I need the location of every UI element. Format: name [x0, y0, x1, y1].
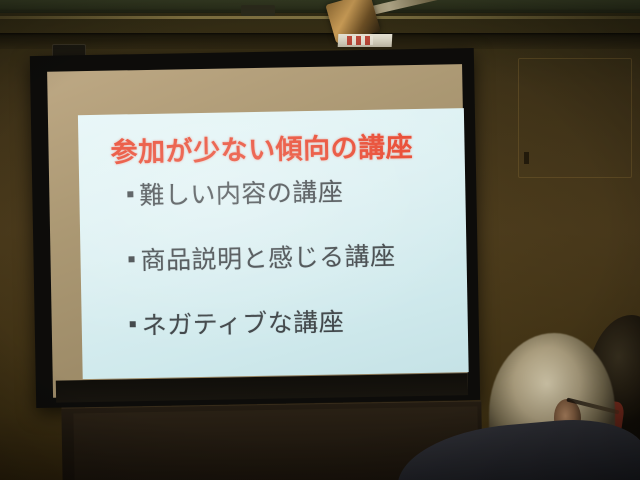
projection-screen-cloth: 参加が少ない傾向の講座 難しい内容の講座 商品説明と感じる講座 ネガティブな講座 — [47, 64, 468, 398]
rail-highlight — [0, 16, 640, 19]
wall-panel-latch-icon — [524, 152, 529, 164]
slide-title: 参加が少ない傾向の講座 — [110, 125, 413, 170]
list-item-label: ネガティブな講座 — [141, 302, 344, 342]
list-item: 難しい内容の講座 — [127, 170, 456, 212]
rail-shadow — [0, 33, 640, 49]
equipment-label-marking — [347, 36, 373, 45]
bullet-square-icon — [128, 256, 134, 262]
bullet-square-icon — [127, 191, 133, 197]
projected-slide: 参加が少ない傾向の講座 難しい内容の講座 商品説明と感じる講座 ネガティブな講座 — [78, 108, 469, 379]
slide-bullet-list: 難しい内容の講座 商品説明と感じる講座 ネガティブな講座 — [127, 170, 459, 371]
list-item-label: 難しい内容の講座 — [139, 172, 344, 212]
list-item-label: 商品説明と感じる講座 — [140, 236, 396, 277]
rail-end-box — [241, 5, 275, 16]
wall-access-panel — [518, 58, 632, 178]
list-item: ネガティブな講座 — [129, 300, 458, 342]
screen-roller-rail — [0, 11, 640, 33]
list-item: 商品説明と感じる講座 — [128, 235, 457, 277]
projected-slide-photo: 参加が少ない傾向の講座 難しい内容の講座 商品説明と感じる講座 ネガティブな講座 — [0, 0, 640, 480]
bullet-square-icon — [130, 321, 136, 327]
projection-screen-frame: 参加が少ない傾向の講座 難しい内容の講座 商品説明と感じる講座 ネガティブな講座 — [30, 48, 480, 408]
